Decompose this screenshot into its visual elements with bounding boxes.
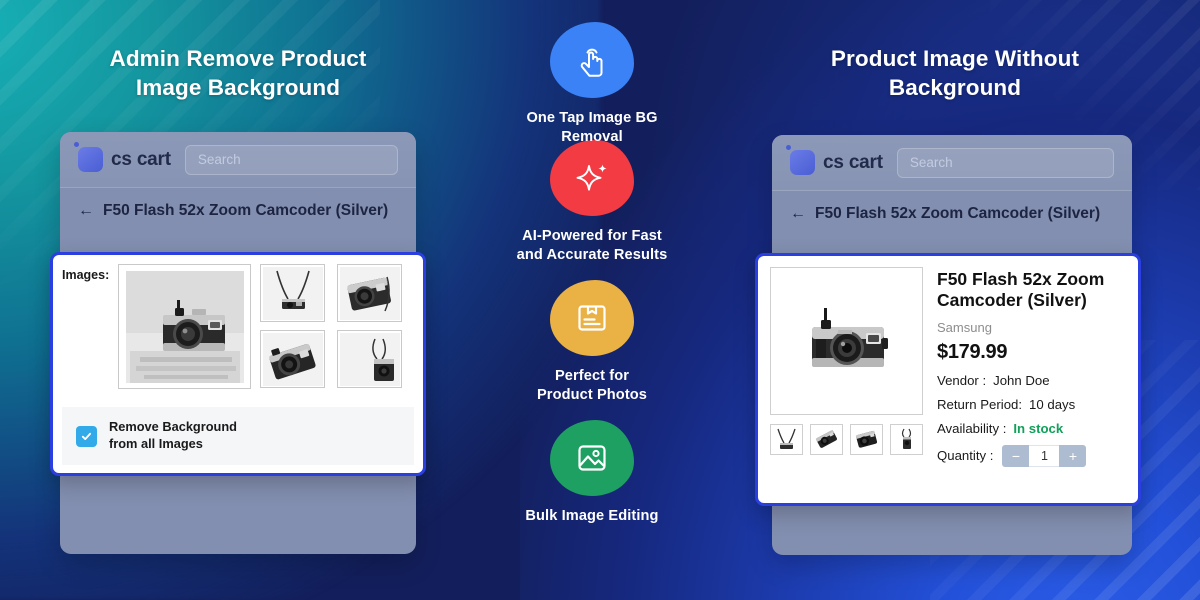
cscart-logo-mark-icon (790, 150, 815, 175)
admin-topbar: cs cart Search (60, 132, 416, 188)
product-thumbnail[interactable] (810, 424, 843, 455)
cscart-logo-mark-icon (78, 147, 103, 172)
thumbnail-item[interactable] (337, 330, 402, 388)
checkbox-label-line-2: from all Images (109, 436, 203, 451)
product-vendor-row: Vendor : John Doe (937, 373, 1126, 388)
product-brand: Samsung (937, 320, 1126, 335)
cscart-logo-text: cs cart (823, 152, 883, 174)
main-image-thumbnail[interactable] (118, 264, 251, 389)
feature-label: AI-Powered for Fast and Accurate Results (490, 227, 694, 266)
camera-hanging-side-image (340, 333, 400, 386)
camera-angled-cutout-icon (813, 427, 840, 452)
admin-search-placeholder: Search (198, 152, 241, 167)
cscart-logo-dot-icon (74, 142, 79, 147)
storefront-breadcrumb-text: F50 Flash 52x Zoom Camcoder (Silver) (815, 203, 1100, 224)
feature-icon-circle (550, 22, 634, 98)
feature-label-line-1: Bulk Image Editing (525, 508, 658, 524)
back-arrow-icon[interactable]: ← (78, 200, 94, 222)
product-thumbnail-list (770, 424, 923, 455)
cscart-logo-dot-icon (786, 145, 791, 150)
cscart-logo[interactable]: cs cart (78, 147, 171, 172)
quantity-label: Quantity : (937, 448, 993, 463)
status-badge: In stock (1013, 421, 1063, 436)
remove-background-checkbox[interactable] (76, 426, 97, 447)
quantity-increase-button[interactable]: + (1059, 445, 1086, 467)
product-title: F50 Flash 52x Zoom Camcoder (Silver) (937, 269, 1126, 312)
product-thumbnail[interactable] (850, 424, 883, 455)
camera-cutout-image (792, 300, 902, 382)
right-title-line-1: Product Image Without (775, 45, 1135, 74)
feature-item: Bulk Image Editing (490, 420, 694, 526)
feature-item: AI-Powered for Fast and Accurate Results (490, 140, 694, 266)
product-price: $179.99 (937, 341, 1126, 364)
feature-label-line-1: AI-Powered for Fast (522, 228, 662, 244)
left-title-line-2: Image Background (60, 74, 416, 103)
quantity-stepper[interactable]: − 1 + (1002, 445, 1086, 467)
quantity-value[interactable]: 1 (1029, 445, 1059, 467)
admin-search-input[interactable]: Search (185, 145, 398, 175)
thumbnail-item[interactable] (337, 264, 402, 322)
vendor-value: John Doe (993, 373, 1049, 388)
check-icon (81, 431, 92, 442)
right-column-title: Product Image Without Background (775, 45, 1135, 103)
feature-label: Perfect for Product Photos (490, 367, 694, 406)
cscart-logo[interactable]: cs cart (790, 150, 883, 175)
images-editor-card: Images: (50, 252, 426, 476)
thumbnail-item[interactable] (260, 330, 325, 388)
feature-label-line-2: Removal (561, 129, 623, 145)
left-title-line-1: Admin Remove Product (60, 45, 416, 74)
camera-strap-cutout-icon (773, 427, 800, 452)
feature-label-line-1: One Tap Image BG (526, 110, 657, 126)
storefront-topbar: cs cart Search (772, 135, 1132, 191)
feature-item: Perfect for Product Photos (490, 280, 694, 406)
package-box-icon (571, 297, 613, 339)
feature-item: One Tap Image BG Removal (490, 22, 694, 126)
feature-icon-circle (550, 280, 634, 356)
product-return-period-row: Return Period: 10 days (937, 397, 1126, 412)
remove-background-checkbox-label: Remove Background from all Images (109, 419, 237, 453)
feature-icon-circle (550, 140, 634, 216)
quantity-decrease-button[interactable]: − (1002, 445, 1029, 467)
feature-label-line-1: Perfect for (555, 368, 629, 384)
remove-background-checkbox-row[interactable]: Remove Background from all Images (62, 407, 414, 465)
return-period-value: 10 days (1029, 397, 1075, 412)
right-title-line-2: Background (775, 74, 1135, 103)
image-photo-icon (571, 437, 613, 479)
feature-label-line-2: Product Photos (537, 387, 647, 403)
vendor-label: Vendor : (937, 373, 986, 388)
back-arrow-icon[interactable]: ← (790, 203, 806, 225)
admin-breadcrumb-text: F50 Flash 52x Zoom Camcoder (Silver) (103, 200, 388, 221)
cscart-logo-text: cs cart (111, 149, 171, 171)
storefront-search-placeholder: Search (910, 155, 953, 170)
product-info: F50 Flash 52x Zoom Camcoder (Silver) Sam… (937, 267, 1126, 493)
tap-finger-icon (571, 39, 613, 81)
product-availability-row: Availability : In stock (937, 421, 1126, 436)
camera-vertical-cutout-icon (893, 427, 920, 452)
product-detail-card: F50 Flash 52x Zoom Camcoder (Silver) Sam… (755, 253, 1141, 506)
camera-with-strap-hanging-image (263, 267, 323, 320)
feature-list: One Tap Image BG Removal AI-Powered for … (490, 22, 694, 540)
image-thumbnail-grid (260, 264, 402, 389)
images-label: Images: (62, 264, 109, 389)
availability-label: Availability : (937, 421, 1006, 436)
feature-label: Bulk Image Editing (490, 507, 694, 526)
storefront-breadcrumb: ← F50 Flash 52x Zoom Camcoder (Silver) (772, 191, 1132, 225)
checkbox-label-line-1: Remove Background (109, 419, 237, 434)
camera-angled-with-strap-image (340, 267, 400, 320)
product-thumbnail[interactable] (890, 424, 923, 455)
feature-icon-circle (550, 420, 634, 496)
product-gallery (770, 267, 923, 493)
sparkle-ai-icon (571, 157, 613, 199)
product-quantity-row: Quantity : − 1 + (937, 445, 1126, 467)
camera-on-desk-image (126, 271, 244, 383)
camera-top-angle-image (263, 333, 323, 386)
product-thumbnail[interactable] (770, 424, 803, 455)
return-period-label: Return Period: (937, 397, 1022, 412)
images-row: Images: (53, 255, 423, 389)
camera-front-cutout-icon (853, 427, 880, 452)
feature-label-line-2: and Accurate Results (517, 247, 668, 263)
admin-breadcrumb: ← F50 Flash 52x Zoom Camcoder (Silver) (60, 188, 416, 222)
thumbnail-item[interactable] (260, 264, 325, 322)
left-column-title: Admin Remove Product Image Background (60, 45, 416, 103)
product-hero-image[interactable] (770, 267, 923, 415)
storefront-search-input[interactable]: Search (897, 148, 1114, 178)
